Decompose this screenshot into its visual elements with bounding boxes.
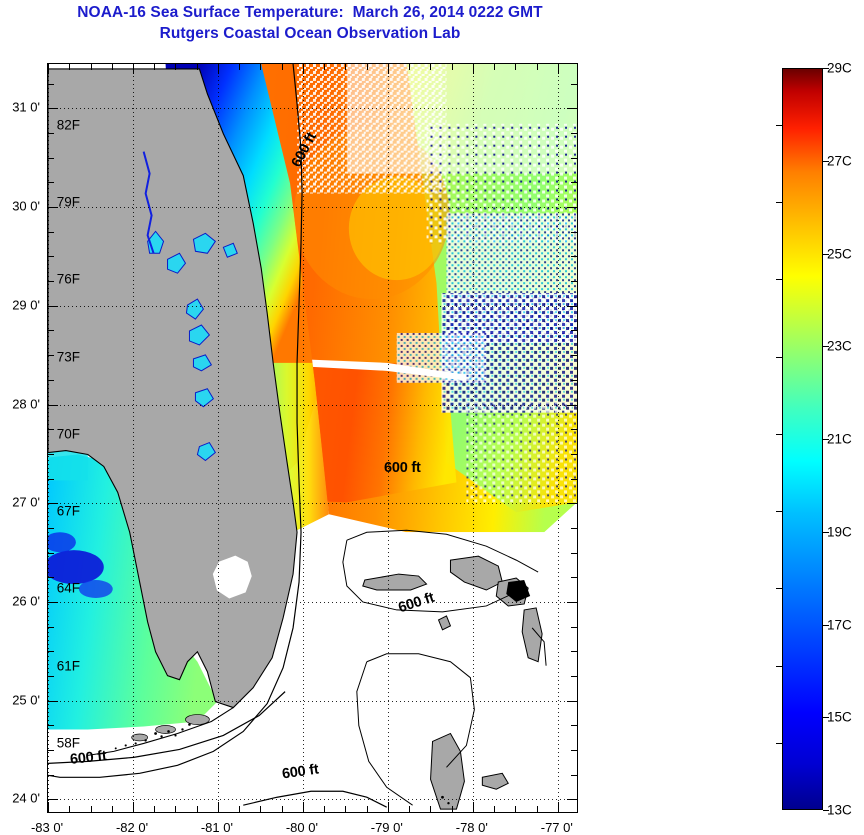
y-axis-tick-major [567,602,578,603]
y-axis-label: 26 0' [12,593,40,608]
colorbar-tick-fahrenheit [776,666,782,667]
y-axis-tick-minor [571,627,578,628]
colorbar-tick-fahrenheit [776,202,782,203]
y-axis-tick-minor [47,429,54,430]
y-axis-label: 25 0' [12,692,40,707]
y-axis-tick-major [47,306,58,307]
y-axis-tick-minor [47,454,54,455]
x-axis-tick-minor [112,63,113,70]
y-axis-tick-minor [571,281,578,282]
x-axis-tick-minor [452,63,453,70]
x-axis-tick-minor [69,63,70,70]
x-axis-tick-minor [260,806,261,813]
colorbar-label-celsius: 15C [827,710,852,725]
colorbar-tick-fahrenheit [776,588,782,589]
x-axis-tick-minor [154,63,155,70]
y-axis-tick-minor [47,775,54,776]
x-axis-tick-minor [345,806,346,813]
colorbar-label-celsius: 17C [827,617,852,632]
colorbar-tick-fahrenheit [776,279,782,280]
x-axis-label: -81 0' [201,820,233,835]
colorbar-label-celsius: 29C [827,61,852,76]
y-axis-tick-major [567,503,578,504]
y-axis-tick-minor [47,627,54,628]
x-axis-tick-minor [197,806,198,813]
colorbar-label-fahrenheit: 70F [57,426,80,441]
y-axis-tick-minor [571,651,578,652]
x-axis-label: -77 0' [541,820,573,835]
colorbar-label-fahrenheit: 79F [57,195,80,210]
colorbar-tick-fahrenheit [776,357,782,358]
x-axis-label: -80 0' [286,820,318,835]
x-axis-tick-minor [91,806,92,813]
y-axis-tick-major [567,108,578,109]
y-axis-tick-minor [571,182,578,183]
x-axis-tick-minor [367,806,368,813]
colorbar-tick-fahrenheit [776,434,782,435]
y-axis-tick-minor [47,528,54,529]
colorbar-label-fahrenheit: 61F [57,658,80,673]
x-axis-tick-minor [537,63,538,70]
y-axis-tick-minor [571,355,578,356]
y-axis-tick-minor [571,133,578,134]
x-axis-tick-minor [154,806,155,813]
x-axis-label: -79 0' [371,820,403,835]
y-axis-tick-major [47,602,58,603]
y-axis-tick-minor [571,553,578,554]
y-axis-tick-major [47,108,58,109]
colorbar-label-fahrenheit: 76F [57,272,80,287]
x-axis-tick-minor [197,63,198,70]
y-axis-tick-minor [571,454,578,455]
contour-label-600ft-2: 600 ft [384,460,421,476]
x-axis-tick-minor [324,806,325,813]
x-axis-tick-minor [409,63,410,70]
colorbar-tick-fahrenheit [776,743,782,744]
y-axis-label: 30 0' [12,199,40,214]
x-axis-tick-minor [345,63,346,70]
y-axis-label: 27 0' [12,495,40,510]
x-axis-tick-major [48,802,49,813]
colorbar-label-celsius: 23C [827,339,852,354]
colorbar-label-fahrenheit: 64F [57,581,80,596]
x-axis-tick-major [388,802,389,813]
x-axis-tick-major [558,63,559,74]
y-axis-tick-minor [47,84,54,85]
x-axis-tick-minor [494,806,495,813]
y-axis-tick-major [567,799,578,800]
y-axis-tick-minor [571,528,578,529]
y-axis-tick-minor [47,355,54,356]
colorbar-label-fahrenheit: 82F [57,117,80,132]
x-axis-tick-minor [515,806,516,813]
x-axis-tick-minor [175,806,176,813]
x-axis-tick-minor [452,806,453,813]
y-axis-label: 28 0' [12,396,40,411]
y-axis-tick-minor [571,232,578,233]
y-axis-tick-major [567,306,578,307]
x-axis-tick-major [473,63,474,74]
y-axis-tick-minor [47,182,54,183]
x-axis-label: -82 0' [116,820,148,835]
y-axis-tick-minor [47,232,54,233]
y-axis-tick-minor [571,84,578,85]
colorbar-tick-fahrenheit [776,511,782,512]
y-axis-tick-minor [47,380,54,381]
y-axis-tick-major [567,701,578,702]
x-axis-tick-minor [515,63,516,70]
colorbar-label-fahrenheit: 73F [57,349,80,364]
x-axis-tick-major [133,63,134,74]
x-axis-tick-minor [239,63,240,70]
y-axis-label: 29 0' [12,297,40,312]
y-axis-tick-minor [47,281,54,282]
x-axis-tick-minor [409,806,410,813]
x-axis-tick-major [218,63,219,74]
x-axis-tick-minor [324,63,325,70]
y-axis-tick-minor [47,158,54,159]
x-axis-tick-minor [430,806,431,813]
colorbar-label-celsius: 27C [827,153,852,168]
y-axis-tick-minor [571,479,578,480]
colorbar-label-celsius: 25C [827,246,852,261]
x-axis-label: -78 0' [456,820,488,835]
y-axis-tick-minor [47,553,54,554]
y-axis-tick-major [567,207,578,208]
y-axis-tick-minor [47,651,54,652]
y-axis-tick-minor [571,725,578,726]
y-axis-tick-minor [571,158,578,159]
y-axis-tick-minor [47,725,54,726]
chart-subtitle: Rutgers Coastal Ocean Observation Lab [0,23,620,44]
x-axis-tick-major [303,63,304,74]
x-axis-tick-major [558,802,559,813]
x-axis-tick-major [388,63,389,74]
colorbar-label-celsius: 21C [827,432,852,447]
x-axis-tick-major [218,802,219,813]
colorbar[interactable] [782,68,823,810]
x-axis-tick-minor [494,63,495,70]
y-axis-tick-minor [47,750,54,751]
x-axis-tick-minor [69,806,70,813]
y-axis-label: 24 0' [12,791,40,806]
colorbar-gradient [782,68,823,810]
sst-raster [48,64,577,811]
y-axis-tick-minor [47,676,54,677]
y-axis-tick-minor [571,429,578,430]
y-axis-tick-major [47,405,58,406]
y-axis-tick-minor [571,676,578,677]
x-axis-label: -83 0' [31,820,63,835]
colorbar-label-celsius: 13C [827,803,852,818]
x-axis-tick-minor [260,63,261,70]
y-axis-tick-minor [47,577,54,578]
y-axis-tick-major [47,799,58,800]
page-title: NOAA-16 Sea Surface Temperature: March 2… [0,2,620,23]
colorbar-label-celsius: 19C [827,524,852,539]
y-axis-tick-minor [571,380,578,381]
x-axis-tick-minor [367,63,368,70]
x-axis-tick-minor [430,63,431,70]
x-axis-tick-minor [91,63,92,70]
x-axis-tick-major [133,802,134,813]
y-axis-tick-minor [571,750,578,751]
x-axis-tick-major [303,802,304,813]
y-axis-tick-major [47,701,58,702]
colorbar-label-fahrenheit: 67F [57,504,80,519]
y-axis-tick-minor [571,330,578,331]
y-axis-tick-minor [47,330,54,331]
x-axis-tick-minor [112,806,113,813]
x-axis-tick-minor [537,806,538,813]
sst-map-plot[interactable]: 600 ft 600 ft 600 ft 600 ft 600 ft [47,63,578,813]
y-axis-tick-minor [47,479,54,480]
x-axis-tick-minor [239,806,240,813]
colorbar-tick-fahrenheit [776,125,782,126]
x-axis-tick-major [48,63,49,74]
y-axis-tick-minor [571,577,578,578]
y-axis-tick-minor [571,256,578,257]
x-axis-tick-minor [175,63,176,70]
y-axis-label: 31 0' [12,100,40,115]
y-axis-tick-major [567,405,578,406]
y-axis-tick-minor [47,133,54,134]
x-axis-tick-minor [282,63,283,70]
colorbar-label-fahrenheit: 58F [57,736,80,751]
chart-title-block: NOAA-16 Sea Surface Temperature: March 2… [0,2,620,44]
y-axis-tick-minor [47,256,54,257]
y-axis-tick-minor [571,775,578,776]
x-axis-tick-minor [282,806,283,813]
x-axis-tick-major [473,802,474,813]
